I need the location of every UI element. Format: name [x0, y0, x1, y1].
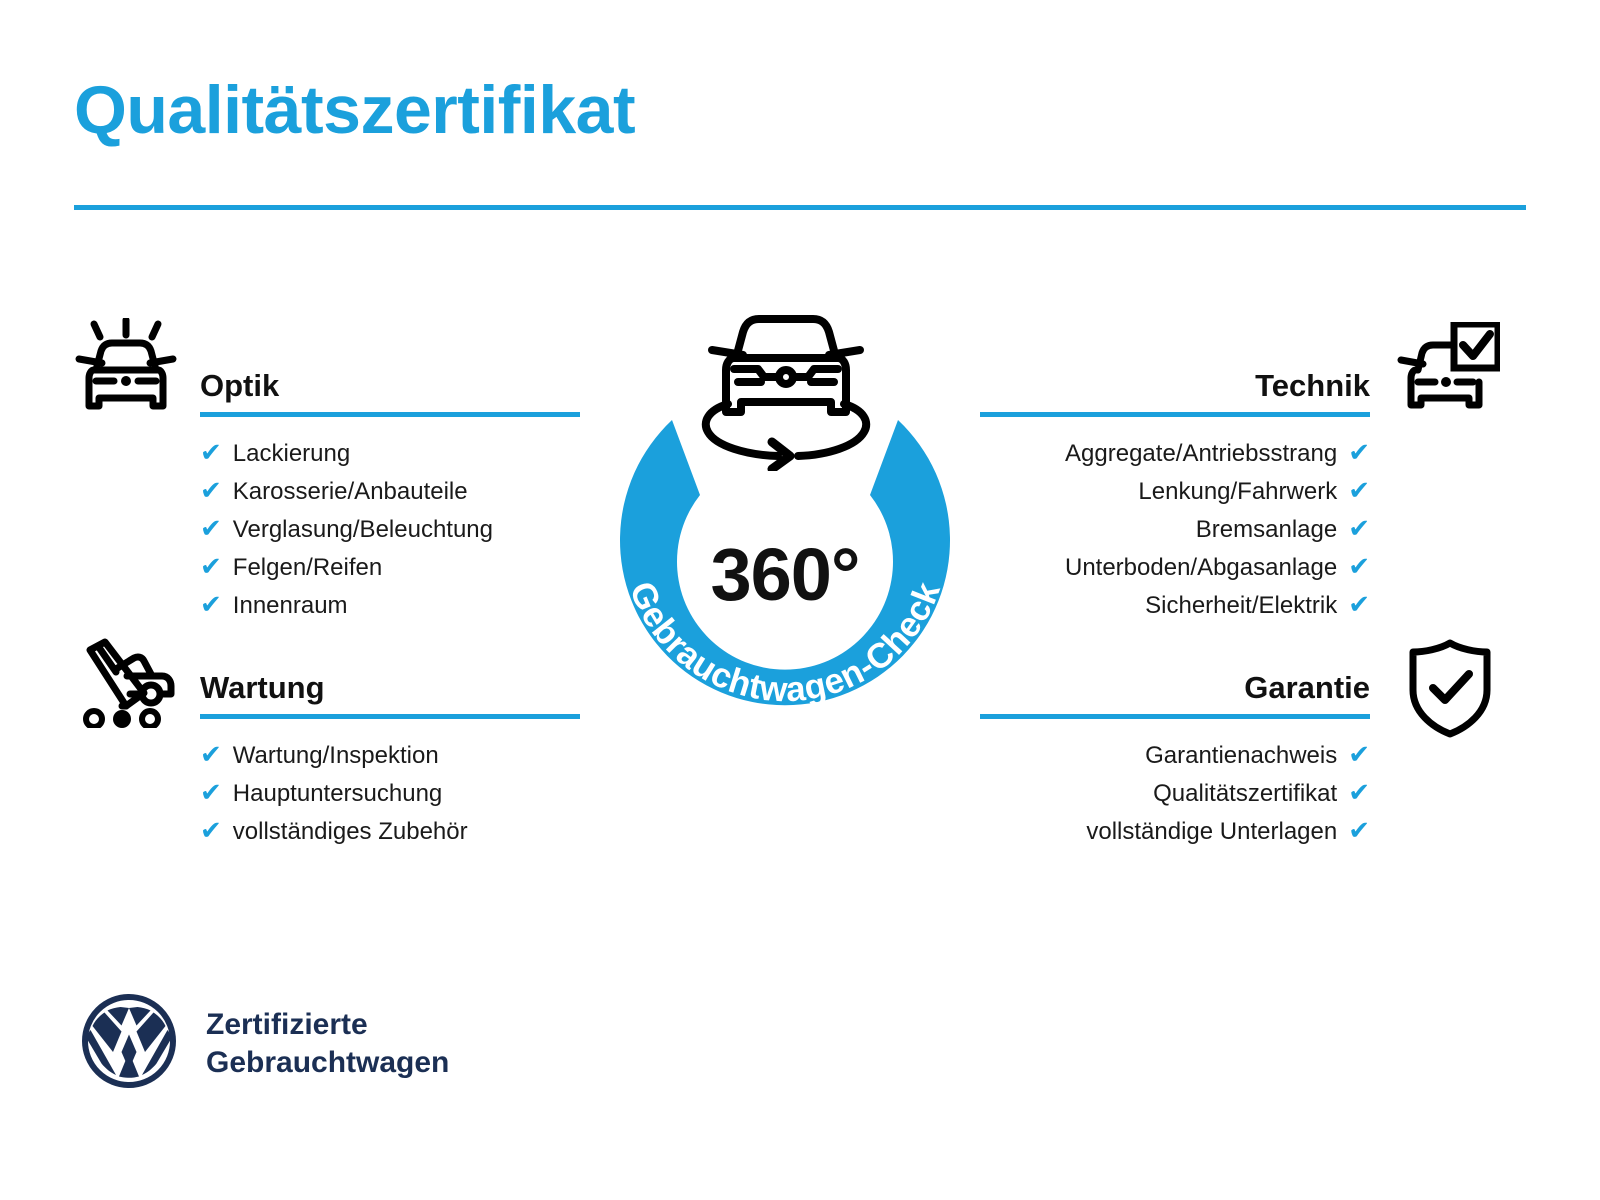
list-item-label: Bremsanlage: [1196, 511, 1337, 548]
list-item: ✔ Innenraum: [200, 586, 580, 624]
car-checkbox-icon: [1396, 322, 1500, 421]
list-item: Sicherheit/Elektrik ✔: [980, 586, 1370, 624]
check-icon: ✔: [200, 586, 222, 623]
car-rotation-icon: [686, 306, 886, 476]
check-icon: ✔: [1348, 774, 1370, 811]
list-item: vollständige Unterlagen ✔: [980, 812, 1370, 850]
check-icon: ✔: [1348, 586, 1370, 623]
check-icon: ✔: [1348, 548, 1370, 585]
brand-line-1: Zertifizierte: [206, 1008, 368, 1041]
list-item-label: Unterboden/Abgasanlage: [1065, 549, 1337, 586]
list-item-label: Verglasung/Beleuchtung: [233, 511, 493, 548]
section-optik-divider: [200, 412, 580, 417]
list-item-label: Lackierung: [233, 435, 350, 472]
section-garantie-divider: [980, 714, 1370, 719]
list-item: ✔ Lackierung: [200, 434, 580, 472]
list-item-label: Garantienachweis: [1145, 737, 1337, 774]
section-optik-head: Optik: [200, 363, 580, 419]
list-item: Aggregate/Antriebsstrang ✔: [980, 434, 1370, 472]
check-icon: ✔: [1348, 434, 1370, 471]
check-icon: ✔: [200, 472, 222, 509]
section-garantie-title: Garantie: [980, 665, 1370, 711]
list-item-label: Lenkung/Fahrwerk: [1138, 473, 1337, 510]
section-optik-title: Optik: [200, 363, 580, 409]
section-technik-divider: [980, 412, 1370, 417]
list-item: ✔ vollständiges Zubehör: [200, 812, 580, 850]
list-item-label: Aggregate/Antriebsstrang: [1065, 435, 1337, 472]
brand-line-2: Gebrauchtwagen: [206, 1044, 449, 1082]
check-icon: ✔: [200, 548, 222, 585]
brand-lockup: Zertifizierte Gebrauchtwagen: [80, 992, 449, 1095]
volkswagen-logo: [80, 992, 178, 1095]
section-wartung-title: Wartung: [200, 665, 580, 711]
check-icon: ✔: [200, 774, 222, 811]
section-garantie: Garantie Garantienachweis ✔ Qualitätszer…: [980, 665, 1370, 850]
section-garantie-head: Garantie: [980, 665, 1370, 721]
list-item: Qualitätszertifikat ✔: [980, 774, 1370, 812]
section-wartung: Wartung ✔ Wartung/Inspektion ✔ Hauptunte…: [200, 665, 580, 850]
check-icon: ✔: [1348, 472, 1370, 509]
check-icon: ✔: [200, 812, 222, 849]
check-icon: ✔: [200, 510, 222, 547]
section-technik: Technik Aggregate/Antriebsstrang ✔ Lenku…: [980, 363, 1370, 624]
page-title: Qualitätszertifikat: [74, 76, 635, 144]
section-technik-head: Technik: [980, 363, 1370, 419]
shield-check-icon: [1404, 638, 1496, 743]
section-wartung-divider: [200, 714, 580, 719]
car-shine-icon: [72, 318, 180, 425]
list-item: ✔ Felgen/Reifen: [200, 548, 580, 586]
header-divider: [74, 205, 1526, 210]
list-item-label: Wartung/Inspektion: [233, 737, 439, 774]
check-icon: ✔: [1348, 812, 1370, 849]
list-item: ✔ Karosserie/Anbauteile: [200, 472, 580, 510]
list-item: ✔ Hauptuntersuchung: [200, 774, 580, 812]
list-item: Lenkung/Fahrwerk ✔: [980, 472, 1370, 510]
section-optik-list: ✔ Lackierung ✔ Karosserie/Anbauteile ✔ V…: [200, 434, 580, 624]
list-item-label: Sicherheit/Elektrik: [1145, 587, 1337, 624]
list-item: Unterboden/Abgasanlage ✔: [980, 548, 1370, 586]
list-item-label: Hauptuntersuchung: [233, 775, 442, 812]
list-item-label: vollständiges Zubehör: [233, 813, 468, 850]
section-optik: Optik ✔ Lackierung ✔ Karosserie/Anbautei…: [200, 363, 580, 624]
list-item-label: Innenraum: [233, 587, 348, 624]
list-item-label: Qualitätszertifikat: [1153, 775, 1337, 812]
list-item-label: vollständige Unterlagen: [1086, 813, 1337, 850]
section-wartung-head: Wartung: [200, 665, 580, 721]
section-technik-list: Aggregate/Antriebsstrang ✔ Lenkung/Fahrw…: [980, 434, 1370, 624]
pencil-car-icon: [72, 636, 178, 733]
section-technik-title: Technik: [980, 363, 1370, 409]
check-icon: ✔: [200, 434, 222, 471]
check-icon: ✔: [1348, 736, 1370, 773]
section-garantie-list: Garantienachweis ✔ Qualitätszertifikat ✔…: [980, 736, 1370, 850]
check-icon: ✔: [200, 736, 222, 773]
check-icon: ✔: [1348, 510, 1370, 547]
list-item-label: Karosserie/Anbauteile: [233, 473, 468, 510]
badge-360-gebrauchtwagen-check: Gebrauchtwagen-Check: [560, 300, 1010, 760]
list-item: Garantienachweis ✔: [980, 736, 1370, 774]
list-item: Bremsanlage ✔: [980, 510, 1370, 548]
list-item: ✔ Wartung/Inspektion: [200, 736, 580, 774]
badge-center-label: 360°: [560, 538, 1010, 612]
list-item: ✔ Verglasung/Beleuchtung: [200, 510, 580, 548]
section-wartung-list: ✔ Wartung/Inspektion ✔ Hauptuntersuchung…: [200, 736, 580, 850]
brand-text: Zertifizierte Gebrauchtwagen: [206, 1006, 449, 1082]
quality-certificate-page: Qualitätszertifikat: [0, 0, 1600, 1200]
list-item-label: Felgen/Reifen: [233, 549, 382, 586]
